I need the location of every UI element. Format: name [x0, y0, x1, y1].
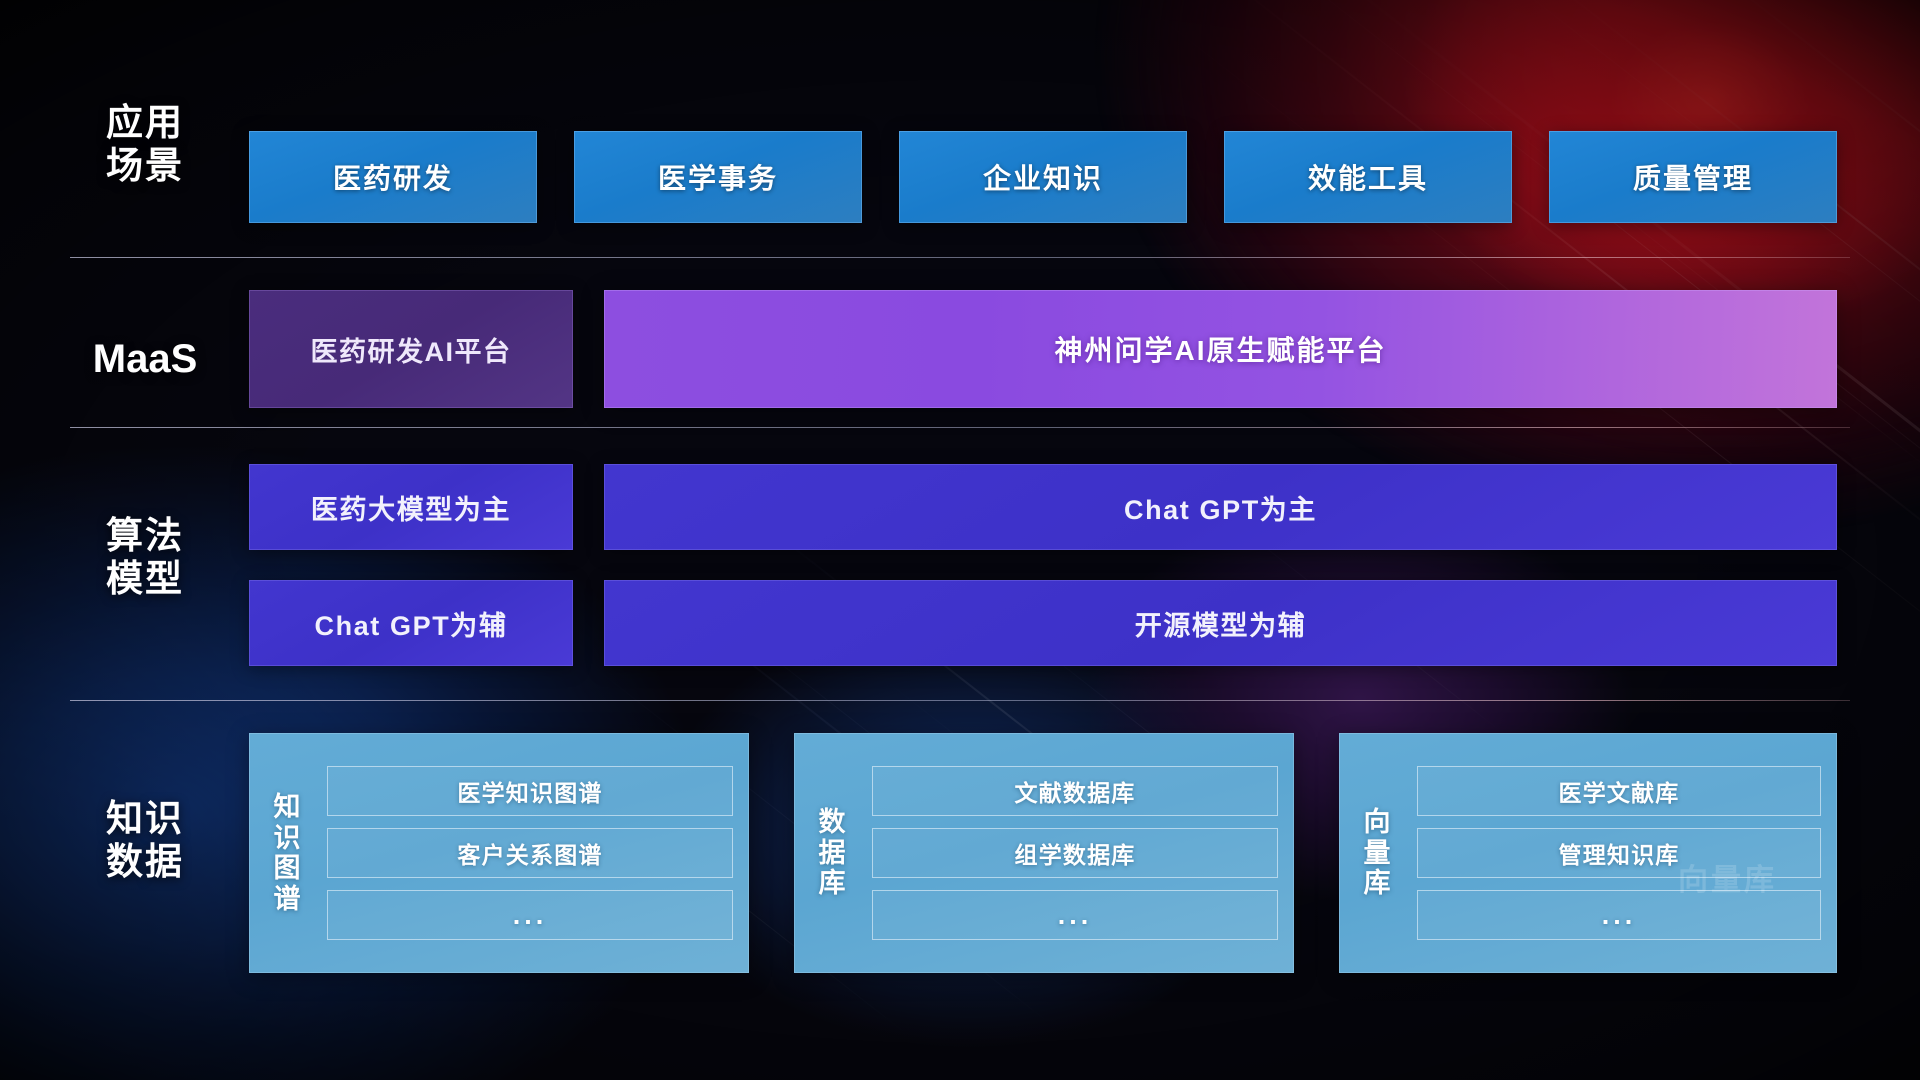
- algo-box-chatgpt-secondary[interactable]: Chat GPT为辅: [249, 580, 573, 666]
- maas-box-pharma-ai-platform[interactable]: 医药研发AI平台: [249, 290, 573, 408]
- title-char: 谱: [274, 884, 301, 915]
- algo-box-label: Chat GPT为辅: [314, 604, 507, 643]
- knowledge-group-title: 数 据 库: [794, 733, 870, 973]
- knowledge-group-title: 向 量 库: [1339, 733, 1415, 973]
- knowledge-item-more[interactable]: ...: [872, 890, 1278, 940]
- knowledge-item-medical-graph[interactable]: 医学知识图谱: [327, 766, 733, 816]
- maas-left-label: 医药研发AI平台: [311, 330, 512, 369]
- row-label-knowledge-line2: 数据: [70, 841, 220, 884]
- app-box-enterprise-knowledge[interactable]: 企业知识: [899, 131, 1187, 223]
- app-box-label: 医药研发: [333, 157, 453, 197]
- title-char: 向: [1364, 807, 1391, 838]
- algo-box-chatgpt-primary[interactable]: Chat GPT为主: [604, 464, 1837, 550]
- diagram-content: 应用 场景 医药研发 医学事务 企业知识 效能工具 质量管理 MaaS: [0, 0, 1920, 1080]
- row-divider-1: [70, 257, 1850, 258]
- row-label-knowledge-line1: 知识: [70, 798, 220, 841]
- row-label-algorithm: 算法 模型: [70, 515, 220, 601]
- row-label-algorithm-line2: 模型: [70, 558, 220, 601]
- app-box-label: 企业知识: [983, 157, 1103, 197]
- app-box-label: 质量管理: [1633, 157, 1753, 197]
- maas-box-shenzhou-wenxue-platform[interactable]: 神州问学AI原生赋能平台: [604, 290, 1837, 408]
- knowledge-group-graph[interactable]: 知 识 图 谱 医学知识图谱 客户关系图谱 ...: [249, 733, 749, 973]
- knowledge-item-customer-graph[interactable]: 客户关系图谱: [327, 828, 733, 878]
- app-box-medical-affairs[interactable]: 医学事务: [574, 131, 862, 223]
- app-box-quality-management[interactable]: 质量管理: [1549, 131, 1837, 223]
- knowledge-item-omics-db[interactable]: 组学数据库: [872, 828, 1278, 878]
- title-char: 量: [1364, 838, 1391, 869]
- knowledge-item-list: 文献数据库 组学数据库 ...: [870, 733, 1294, 973]
- row-label-application-line1: 应用: [70, 102, 220, 145]
- maas-right-label: 神州问学AI原生赋能平台: [1054, 329, 1386, 369]
- algo-box-label: Chat GPT为主: [1124, 488, 1317, 527]
- app-box-medicine-rd[interactable]: 医药研发: [249, 131, 537, 223]
- knowledge-item-management-knowledge[interactable]: 管理知识库: [1417, 828, 1821, 878]
- algo-box-opensource-secondary[interactable]: 开源模型为辅: [604, 580, 1837, 666]
- title-char: 库: [819, 868, 846, 899]
- knowledge-group-title: 知 识 图 谱: [249, 733, 325, 973]
- algo-box-label: 医药大模型为主: [311, 488, 511, 527]
- knowledge-item-more[interactable]: ...: [1417, 890, 1821, 940]
- knowledge-item-list: 医学文献库 管理知识库 ...: [1415, 733, 1837, 973]
- row-divider-3: [70, 700, 1850, 701]
- title-char: 识: [274, 823, 301, 854]
- knowledge-item-more[interactable]: ...: [327, 890, 733, 940]
- title-char: 图: [274, 853, 301, 884]
- knowledge-group-vector[interactable]: 向 量 库 医学文献库 管理知识库 ... 向量库: [1339, 733, 1837, 973]
- knowledge-group-database[interactable]: 数 据 库 文献数据库 组学数据库 ...: [794, 733, 1294, 973]
- title-char: 数: [819, 807, 846, 838]
- title-char: 知: [274, 792, 301, 823]
- row-label-application: 应用 场景: [70, 102, 220, 188]
- title-char: 据: [819, 838, 846, 869]
- title-char: 库: [1364, 868, 1391, 899]
- row-label-algorithm-line1: 算法: [70, 515, 220, 558]
- knowledge-item-medical-literature[interactable]: 医学文献库: [1417, 766, 1821, 816]
- row-divider-2: [70, 427, 1850, 428]
- row-label-maas: MaaS: [70, 336, 220, 382]
- row-label-knowledge: 知识 数据: [70, 798, 220, 884]
- algo-box-pharma-llm-primary[interactable]: 医药大模型为主: [249, 464, 573, 550]
- knowledge-item-literature-db[interactable]: 文献数据库: [872, 766, 1278, 816]
- app-box-efficiency-tools[interactable]: 效能工具: [1224, 131, 1512, 223]
- diagram-canvas: 应用 场景 医药研发 医学事务 企业知识 效能工具 质量管理 MaaS: [0, 0, 1920, 1080]
- row-label-application-line2: 场景: [70, 145, 220, 188]
- algo-box-label: 开源模型为辅: [1135, 604, 1307, 643]
- app-box-label: 医学事务: [658, 157, 778, 197]
- knowledge-item-list: 医学知识图谱 客户关系图谱 ...: [325, 733, 749, 973]
- app-box-label: 效能工具: [1308, 157, 1428, 197]
